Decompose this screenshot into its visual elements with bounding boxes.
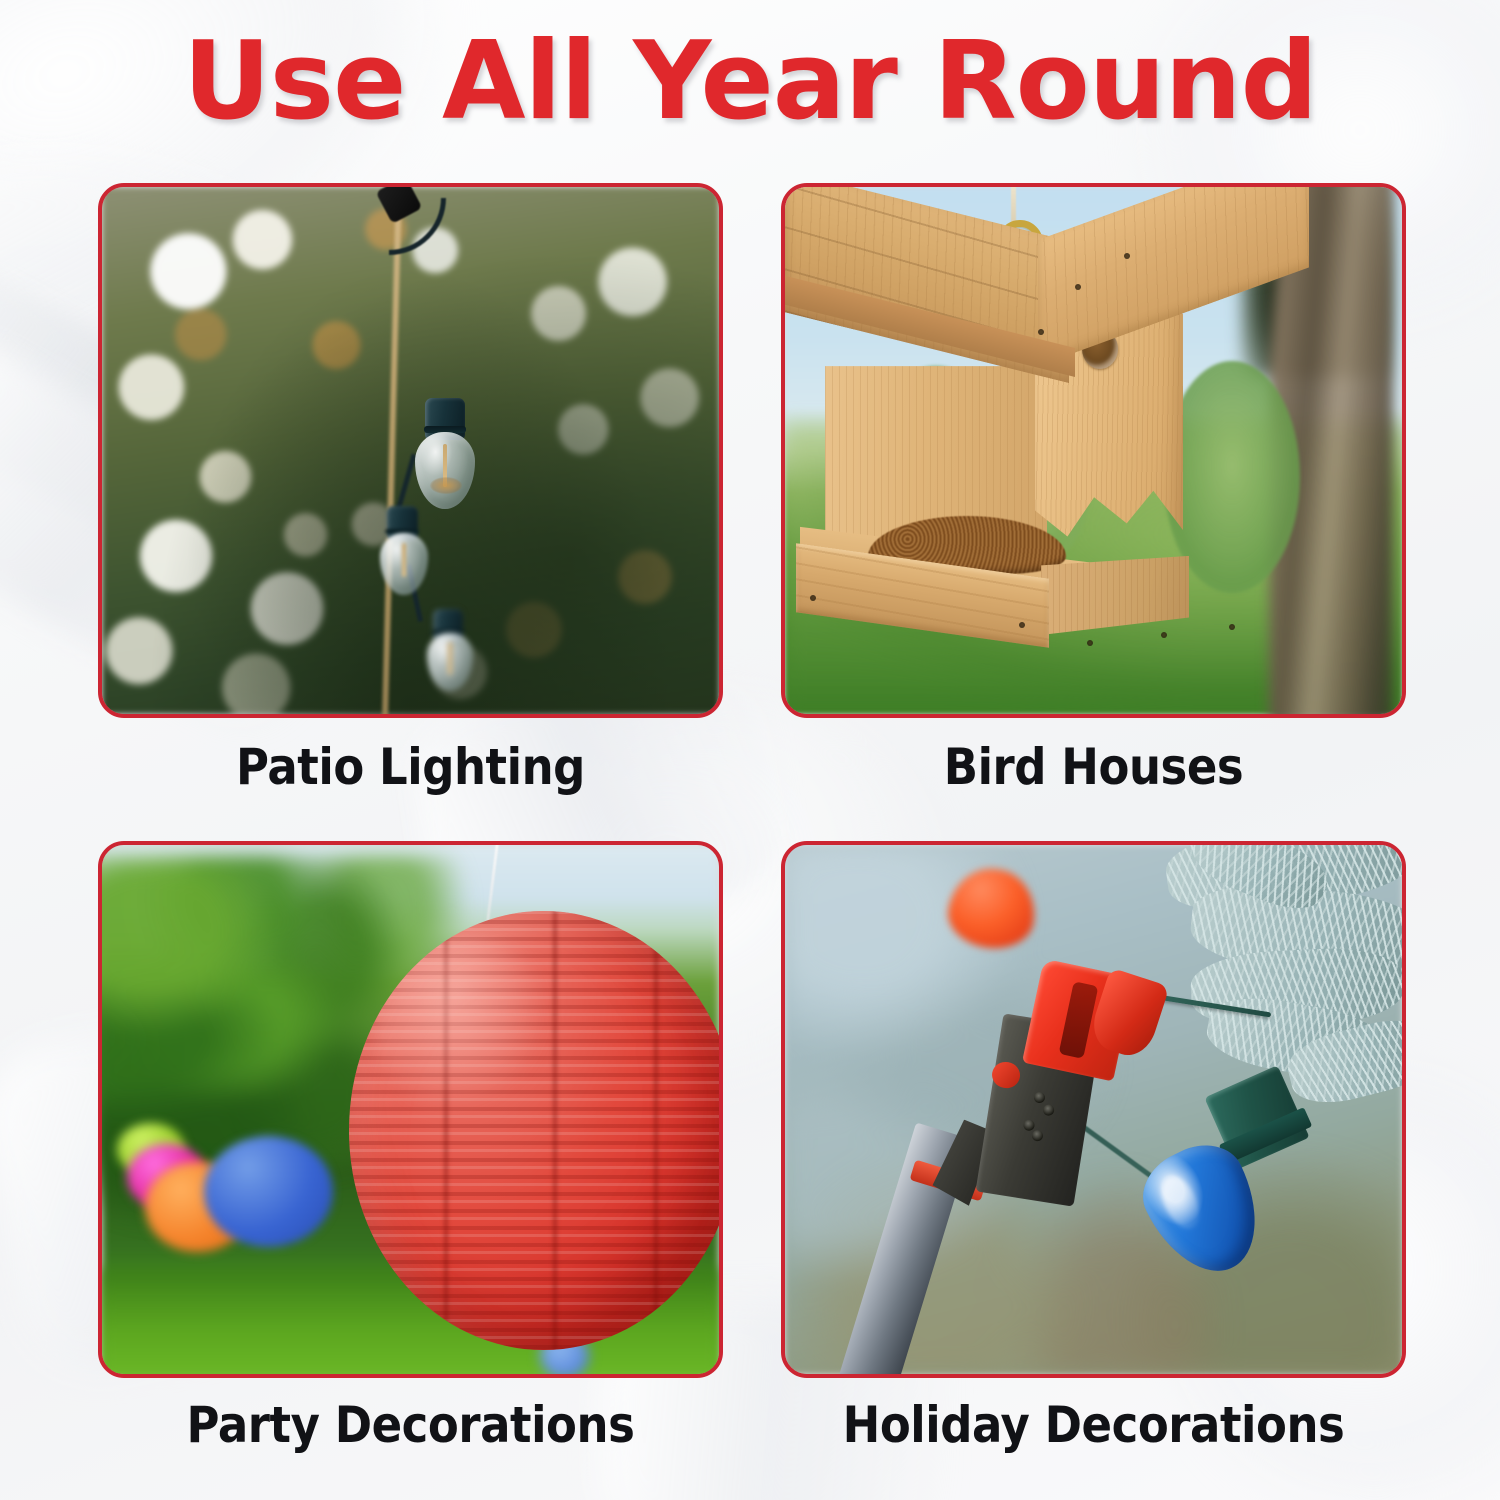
caption-patio-lighting: Patio Lighting (129, 738, 692, 796)
caption-bird-houses: Bird Houses (812, 738, 1375, 796)
screw-icon (1042, 1103, 1055, 1116)
lantern-red-large (349, 911, 719, 1350)
feature-card-bird-houses (781, 183, 1406, 718)
screw-icon (1033, 1091, 1046, 1104)
bird-house-photo (785, 187, 1402, 714)
lantern-seam (652, 911, 660, 1350)
screw-icon (1022, 1118, 1035, 1131)
caption-holiday-decorations: Holiday Decorations (812, 1396, 1375, 1454)
vignette-shade (102, 187, 719, 714)
page-title: Use All Year Round (0, 28, 1500, 136)
party-decorations-photo (102, 845, 719, 1374)
feature-card-patio-lighting (98, 183, 723, 718)
screw-icon (1031, 1129, 1044, 1142)
lantern-seam (551, 911, 559, 1350)
holiday-decorations-photo (785, 845, 1402, 1374)
feature-card-party-decorations (98, 841, 723, 1378)
infographic-page: Use All Year Round Patio L (0, 0, 1500, 1500)
lantern-blue (204, 1136, 334, 1247)
bulb-filament (448, 642, 452, 674)
patio-lighting-photo (102, 187, 719, 714)
feature-card-holiday-decorations (781, 841, 1406, 1378)
lantern-highlight (372, 937, 551, 1113)
caption-party-decorations: Party Decorations (129, 1396, 692, 1454)
bulb-filament-glow (430, 477, 462, 494)
bulb-filament (402, 543, 406, 578)
